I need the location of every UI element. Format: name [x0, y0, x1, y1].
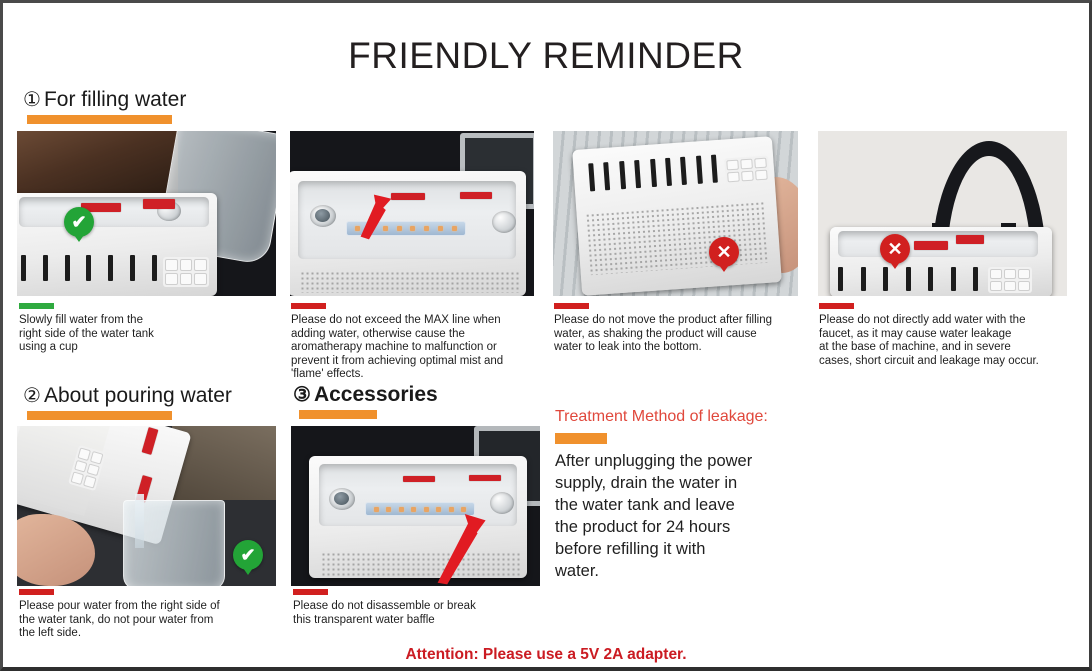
- slider-control: [619, 161, 626, 189]
- footer-attention-note: Attention: Please use a 5V 2A adapter.: [3, 646, 1089, 664]
- slider-controls: [838, 265, 978, 291]
- caption-text: Please do not disassemble or break this …: [293, 600, 543, 627]
- pad-button: [180, 273, 193, 285]
- pad-button: [1018, 269, 1030, 279]
- section-label-2: About pouring water: [44, 384, 232, 407]
- button-pad: [163, 257, 209, 287]
- warning-sticker: [956, 235, 984, 244]
- pad-button: [77, 447, 91, 460]
- water-stream: [135, 494, 144, 548]
- pointer-arrow-icon: [345, 189, 435, 259]
- pointer-arrow-icon: [415, 506, 505, 586]
- speaker-grill: [585, 201, 769, 275]
- caption-marker-red: [291, 303, 326, 309]
- pad-button: [740, 159, 753, 170]
- warning-sticker: [914, 241, 948, 250]
- slider-control: [861, 267, 866, 291]
- reminder-page: FRIENDLY REMINDER ①For filling water: [0, 0, 1092, 671]
- forbidden-badge: ✕: [880, 234, 910, 264]
- photo-fill-with-cup: ✔: [17, 131, 276, 296]
- pad-button: [71, 472, 85, 485]
- slider-control: [43, 255, 48, 281]
- caption-marker-red: [819, 303, 854, 309]
- leakage-treatment-block: Treatment Method of leakage: After unplu…: [555, 408, 875, 582]
- pad-button: [194, 259, 207, 271]
- caption-do-not-move: Please do not move the product after fil…: [554, 303, 809, 355]
- check-icon: ✔: [71, 213, 86, 231]
- slider-control: [928, 267, 933, 291]
- pad-button: [180, 259, 193, 271]
- pad-button: [1004, 281, 1016, 291]
- caption-text: Please do not directly add water with th…: [819, 314, 1069, 368]
- caption-marker-red: [293, 589, 328, 595]
- slider-control: [951, 267, 956, 291]
- slider-control: [634, 160, 641, 188]
- slider-control: [108, 255, 113, 281]
- caption-fill-with-cup: Slowly fill water from the right side of…: [19, 303, 269, 355]
- section-number-2: ②: [23, 385, 41, 407]
- slider-control: [86, 255, 91, 281]
- photo-do-not-move: ✕: [553, 131, 798, 296]
- slider-control: [906, 267, 911, 291]
- pad-button: [727, 172, 740, 183]
- slider-control: [883, 267, 888, 291]
- photo-do-not-use-faucet: ✕: [818, 131, 1067, 296]
- warning-sticker: [469, 475, 501, 481]
- slider-control: [973, 267, 978, 291]
- caption-text: Please pour water from the right side of…: [19, 600, 269, 641]
- pad-button: [90, 451, 104, 464]
- slider-control: [65, 255, 70, 281]
- section-underline-2: [27, 411, 172, 420]
- pad-button: [165, 259, 178, 271]
- max-line-sticker: [460, 192, 492, 199]
- led-dot: [438, 226, 443, 231]
- section-heading-pouring-water: ②About pouring water: [23, 383, 232, 408]
- caption-text: Please do not exceed the MAX line when a…: [291, 314, 541, 382]
- led-dot: [374, 507, 379, 512]
- caption-text: Please do not move the product after fil…: [554, 314, 809, 355]
- slider-control: [588, 163, 595, 191]
- photo-pour-into-cup: ✔: [17, 426, 276, 586]
- pad-button: [1004, 269, 1016, 279]
- wood-plank-scenery: [17, 131, 178, 194]
- leakage-title: Treatment Method of leakage:: [555, 408, 875, 426]
- slider-control: [152, 255, 157, 281]
- slider-control: [130, 255, 135, 281]
- approved-check-badge: ✔: [64, 207, 94, 237]
- approved-check-badge: ✔: [233, 540, 263, 570]
- speaker-grill: [300, 271, 520, 293]
- caption-text: Slowly fill water from the right side of…: [19, 314, 269, 355]
- button-pad: [724, 155, 770, 184]
- led-dot: [386, 507, 391, 512]
- section-heading-filling-water: ①For filling water: [23, 87, 186, 112]
- section-number-1: ①: [23, 89, 41, 111]
- section-underline-1: [27, 115, 172, 124]
- forbidden-badge: ✕: [709, 237, 739, 267]
- nozzle-inner: [315, 209, 330, 222]
- pad-button: [990, 269, 1002, 279]
- pad-button: [74, 460, 88, 473]
- caption-no-faucet: Please do not directly add water with th…: [819, 303, 1069, 368]
- page-title: FRIENDLY REMINDER: [3, 35, 1089, 77]
- led-dot: [399, 507, 404, 512]
- pad-button: [165, 273, 178, 285]
- section-label-3: Accessories: [314, 383, 438, 406]
- section-heading-accessories: ③Accessories: [293, 382, 438, 407]
- pad-button: [726, 160, 739, 171]
- pad-button: [194, 273, 207, 285]
- caption-marker-red: [19, 589, 54, 595]
- pad-button: [755, 170, 768, 181]
- photo-water-baffle: [291, 426, 540, 586]
- leakage-body-text: After unplugging the power supply, drain…: [555, 450, 875, 582]
- leakage-underline: [555, 433, 607, 444]
- slider-control: [604, 162, 611, 190]
- slider-controls: [21, 253, 157, 281]
- caption-marker-red: [554, 303, 589, 309]
- check-icon: ✔: [240, 546, 255, 564]
- warning-sticker: [403, 476, 435, 482]
- mist-nozzle: [329, 488, 355, 510]
- section-label-1: For filling water: [44, 88, 186, 111]
- slider-control: [838, 267, 843, 291]
- warning-sticker: [143, 199, 175, 209]
- button-pad: [988, 267, 1032, 293]
- slider-control: [665, 158, 672, 186]
- caption-max-line: Please do not exceed the MAX line when a…: [291, 303, 541, 382]
- pad-button: [1018, 281, 1030, 291]
- nozzle-inner: [334, 492, 349, 505]
- slider-control: [650, 159, 657, 187]
- pad-button: [990, 281, 1002, 291]
- led-dot: [452, 226, 457, 231]
- caption-marker-green: [19, 303, 54, 309]
- photo-max-line-interior: [290, 131, 534, 296]
- section-underline-3: [299, 410, 377, 419]
- caption-pour-right-side: Please pour water from the right side of…: [19, 589, 269, 641]
- mist-nozzle: [310, 205, 336, 227]
- slider-control: [21, 255, 26, 281]
- section-number-3: ③: [293, 384, 311, 406]
- pad-button: [83, 475, 97, 488]
- slider-control: [680, 157, 687, 185]
- pad-button: [754, 158, 767, 169]
- caption-do-not-disassemble: Please do not disassemble or break this …: [293, 589, 543, 627]
- slider-control: [696, 156, 703, 184]
- mist-nozzle-right: [492, 211, 516, 233]
- cross-icon: ✕: [887, 240, 902, 258]
- pad-button: [741, 171, 754, 182]
- cross-icon: ✕: [716, 243, 731, 261]
- pad-button: [86, 463, 100, 476]
